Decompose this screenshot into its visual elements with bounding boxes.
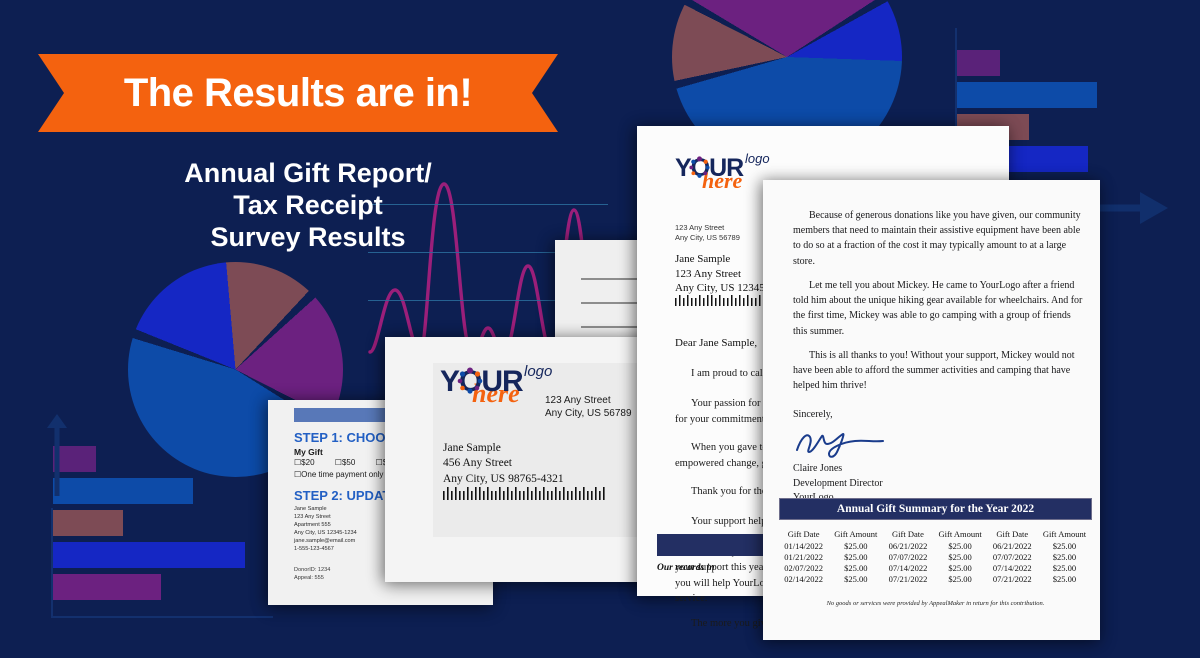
table-row: 01/21/2022 $25.00 07/07/2022 $25.00 07/0… — [779, 552, 1092, 563]
receipt-paragraph: Let me tell you about Mickey. He came to… — [793, 278, 1086, 339]
poster-subtitle: Annual Gift Report/ Tax Receipt Survey R… — [108, 158, 508, 254]
bar-axis-horizontal — [51, 616, 273, 618]
cell-gift-date: 01/14/2022 — [779, 541, 828, 552]
logo-word-logo: logo — [524, 363, 552, 380]
gift-summary-table: Gift Date Gift Amount Gift Date Gift Amo… — [779, 529, 1092, 584]
donor-codes: DonorID: 1234 Appeal: 555 — [294, 566, 330, 583]
cell-gift-amount: $25.00 — [1037, 552, 1092, 563]
bar-item — [957, 50, 1000, 76]
bar-item — [53, 510, 123, 536]
column-header: Gift Date — [883, 529, 932, 541]
poster-canvas: The Results are in! Annual Gift Report/ … — [0, 0, 1200, 658]
column-header: Gift Amount — [828, 529, 883, 541]
cell-gift-date: 02/07/2022 — [779, 563, 828, 574]
gift-summary-section: Annual Gift Summary for the Year 2022 Gi… — [779, 498, 1092, 607]
tax-disclaimer: No goods or services were provided by Ap… — [779, 600, 1092, 607]
postal-barcode-icon — [443, 487, 608, 500]
letter-logo: YOUR logo here — [675, 154, 743, 194]
chart-bars-bottom-left — [40, 420, 290, 620]
tax-receipt-letter: Because of generous donations like you h… — [763, 180, 1100, 640]
bar-item — [53, 542, 245, 568]
receipt-paragraph: Because of generous donations like you h… — [793, 208, 1086, 269]
cell-gift-date: 07/07/2022 — [883, 552, 932, 563]
cell-gift-amount: $25.00 — [933, 552, 988, 563]
banner-headline: The Results are in! — [124, 73, 472, 113]
up-arrow-icon — [44, 412, 70, 498]
records-line: Our records in — [657, 563, 715, 573]
envelope-logo: YOUR logo here — [440, 365, 523, 409]
cell-gift-date: 07/14/2022 — [988, 563, 1037, 574]
letter-recipient-address: Jane Sample 123 Any Street Any City, US … — [675, 252, 774, 296]
cell-gift-amount: $25.00 — [828, 552, 883, 563]
letter-org-address: 123 Any Street Any City, US 56789 — [675, 223, 740, 243]
cell-gift-amount: $25.00 — [828, 573, 883, 584]
cell-gift-amount: $25.00 — [828, 563, 883, 574]
results-banner: The Results are in! — [38, 54, 558, 132]
gift-summary-title: Annual Gift Summary for the Year 2022 — [779, 498, 1092, 520]
column-header: Gift Date — [779, 529, 828, 541]
bar-item — [53, 478, 193, 504]
table-row: 01/14/2022 $25.00 06/21/2022 $25.00 06/2… — [779, 541, 1092, 552]
gift-amount-option[interactable]: ☐$50 — [335, 458, 365, 467]
table-row: 02/14/2022 $25.00 07/21/2022 $25.00 07/2… — [779, 573, 1092, 584]
receipt-paragraph: This is all thanks to you! Without your … — [793, 348, 1086, 394]
gift-amount-option[interactable]: ☐$20 — [294, 458, 324, 467]
cell-gift-amount: $25.00 — [1037, 541, 1092, 552]
column-header: Gift Date — [988, 529, 1037, 541]
signature-icon — [793, 428, 888, 458]
cell-gift-date: 07/21/2022 — [988, 573, 1037, 584]
logo-word-logo: logo — [745, 151, 770, 166]
letter-greeting: Dear Jane Sample, — [675, 337, 757, 349]
bar-item — [53, 574, 161, 600]
envelope-org-address: 123 Any Street Any City, US 56789 — [545, 394, 632, 420]
cell-gift-date: 07/14/2022 — [883, 563, 932, 574]
cell-gift-amount: $25.00 — [933, 573, 988, 584]
cell-gift-date: 07/07/2022 — [988, 552, 1037, 563]
cell-gift-date: 06/21/2022 — [883, 541, 932, 552]
cell-gift-amount: $25.00 — [1037, 563, 1092, 574]
cell-gift-date: 02/14/2022 — [779, 573, 828, 584]
envelope: YOUR logo here 123 Any Street Any City, … — [385, 337, 677, 582]
logo-ring-icon — [688, 156, 711, 179]
receipt-closing: Sincerely, — [793, 408, 833, 423]
bar-item — [957, 82, 1097, 108]
envelope-recipient-address: Jane Sample 456 Any Street Any City, US … — [443, 441, 564, 487]
table-header-row: Gift Date Gift Amount Gift Date Gift Amo… — [779, 529, 1092, 541]
donor-contact-block: Jane Sample 123 Any Street Apartment 555… — [294, 506, 357, 554]
cell-gift-date: 07/21/2022 — [883, 573, 932, 584]
table-row: 02/07/2022 $25.00 07/14/2022 $25.00 07/1… — [779, 563, 1092, 574]
my-gift-label: My Gift — [294, 447, 323, 457]
cell-gift-amount: $25.00 — [933, 541, 988, 552]
cell-gift-date: 06/21/2022 — [988, 541, 1037, 552]
cell-gift-amount: $25.00 — [933, 563, 988, 574]
cell-gift-amount: $25.00 — [1037, 573, 1092, 584]
cell-gift-amount: $25.00 — [828, 541, 883, 552]
column-header: Gift Amount — [1037, 529, 1092, 541]
cell-gift-date: 01/21/2022 — [779, 552, 828, 563]
logo-ring-icon — [456, 367, 484, 395]
column-header: Gift Amount — [933, 529, 988, 541]
